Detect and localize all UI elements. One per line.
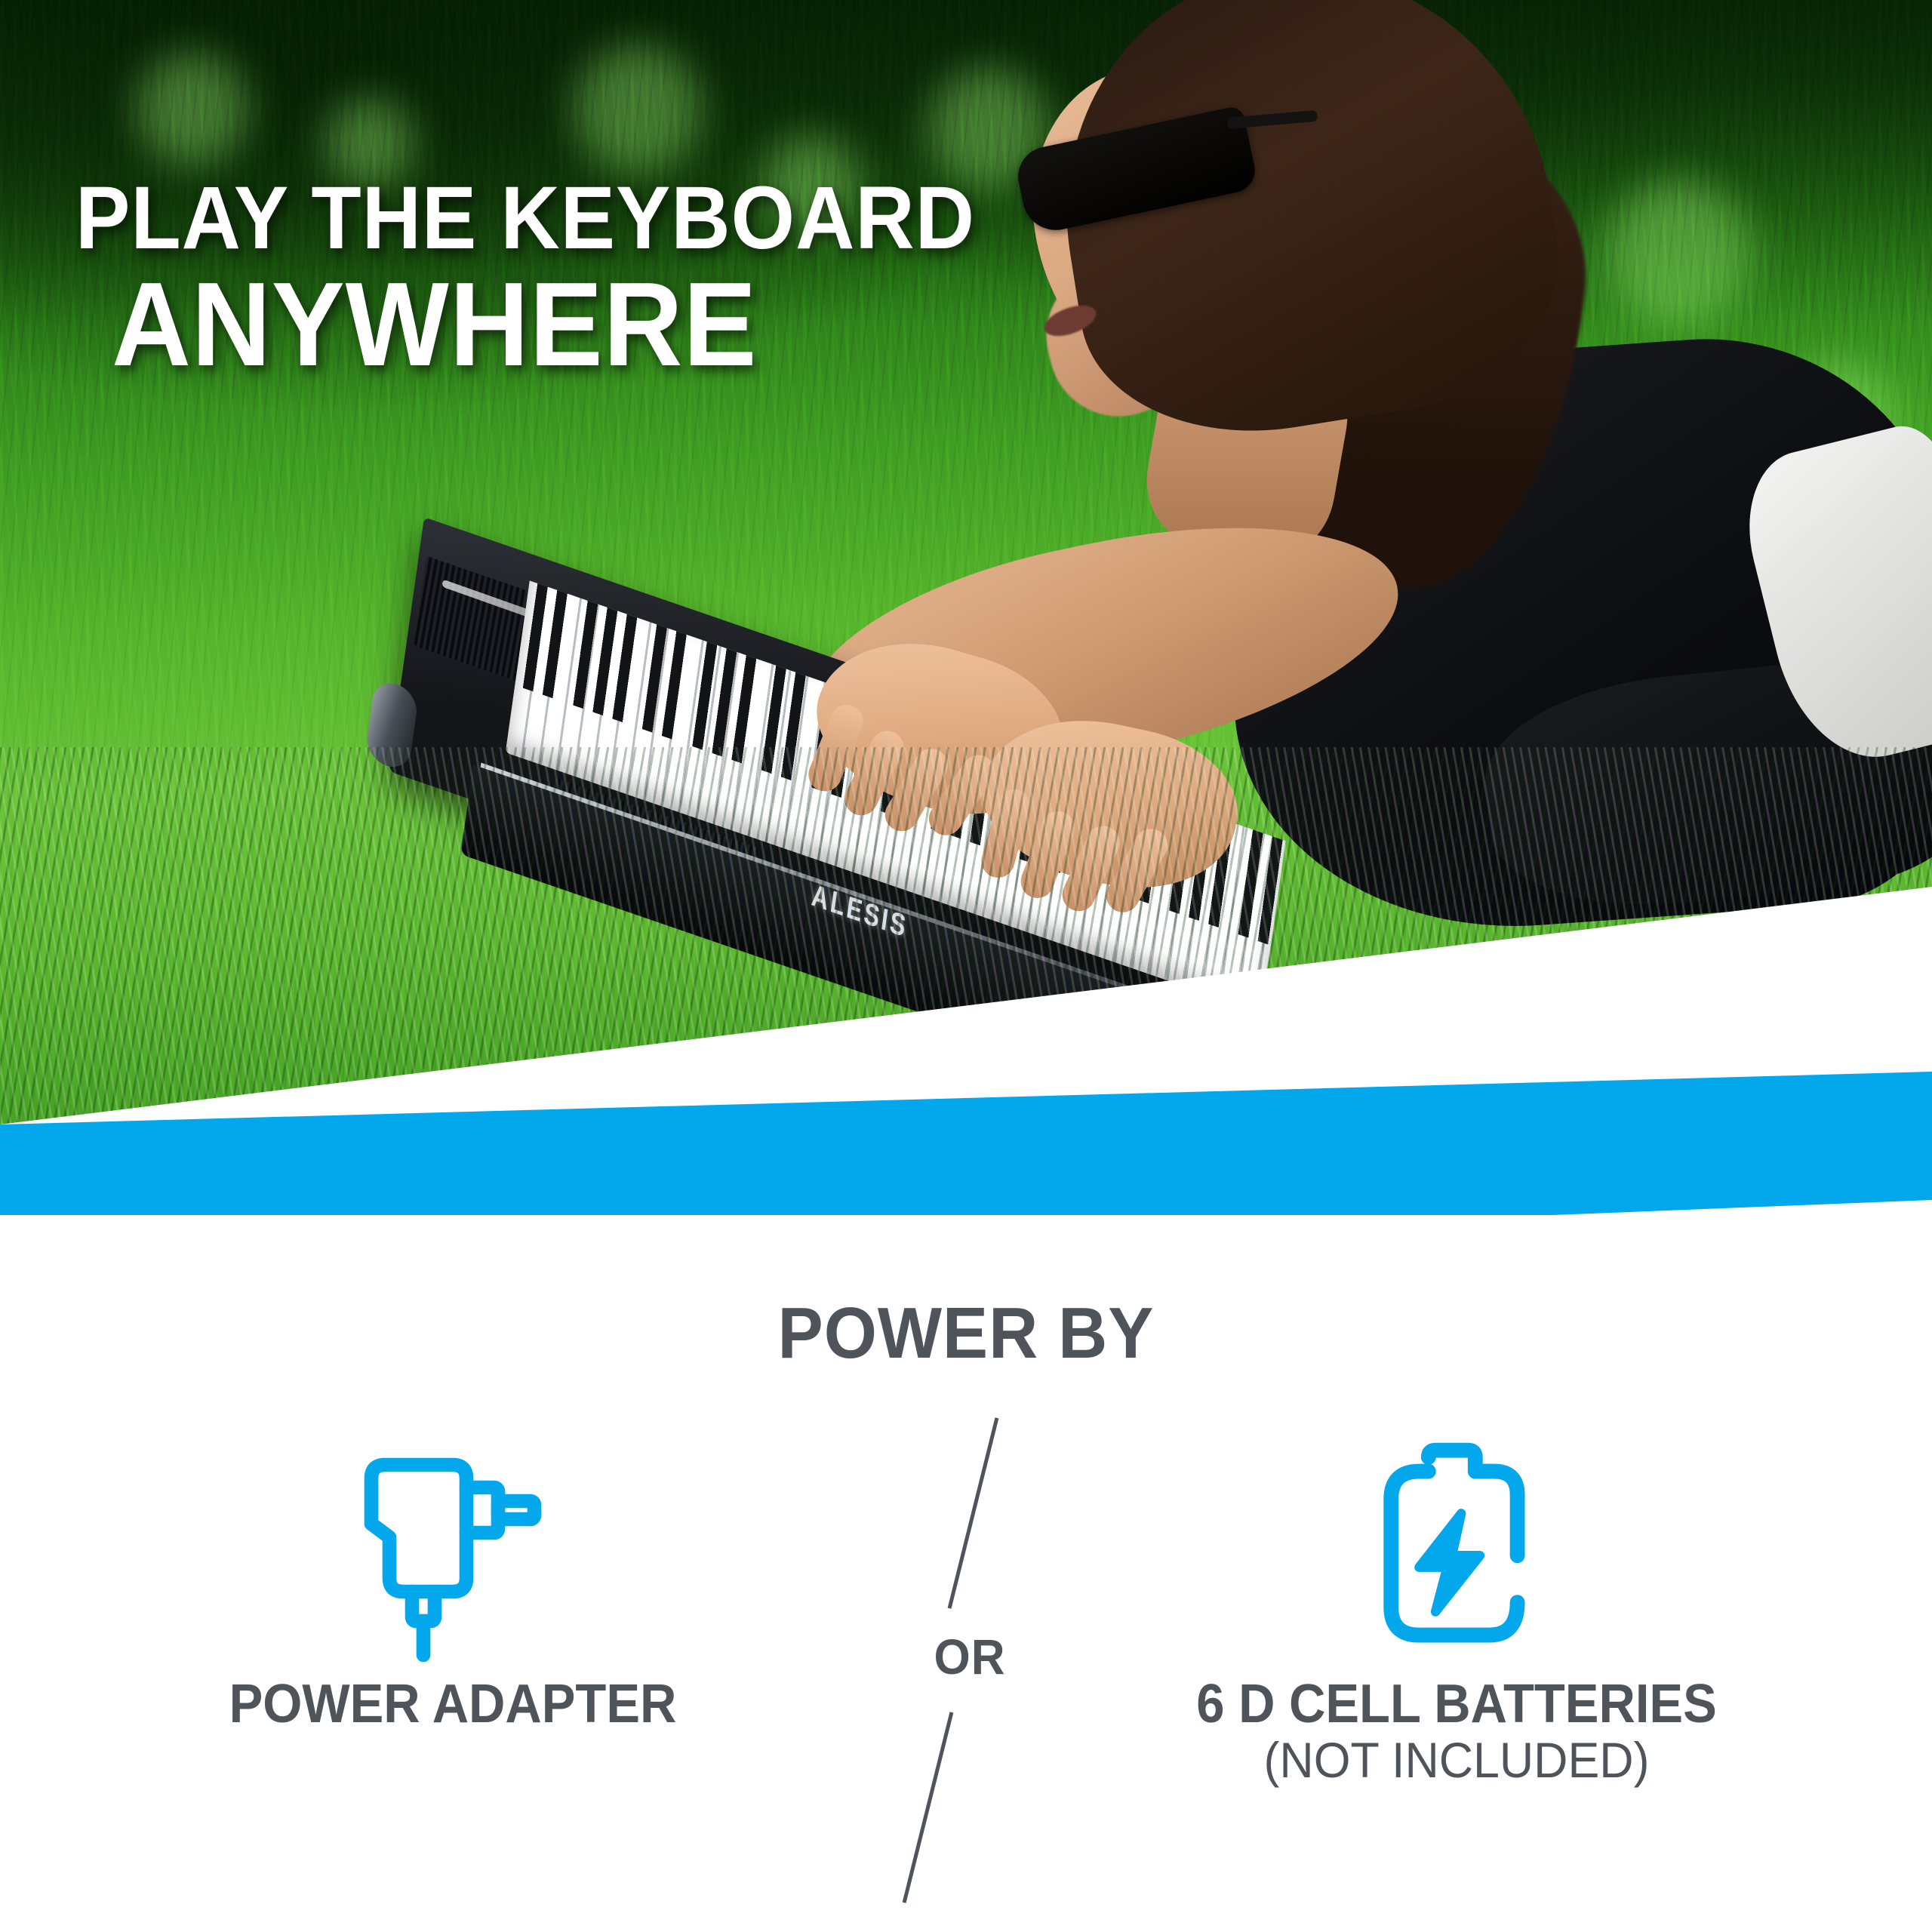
divider-line-bottom xyxy=(903,1712,954,1903)
lifestyle-photo: ALESIS PLAY THE KEYBOARD ANYWHERE xyxy=(0,0,1932,1215)
batteries-sublabel: (NOT INCLUDED) xyxy=(1106,1733,1808,1789)
power-option-batteries: 6 D CELL BATTERIES (NOT INCLUDED) xyxy=(1087,1426,1826,1789)
or-divider: OR xyxy=(857,1407,1083,1906)
power-adapter-label: POWER ADAPTER xyxy=(137,1675,769,1733)
headline-line-2: ANYWHERE xyxy=(112,264,978,386)
battery-icon-wrap xyxy=(1087,1426,1826,1675)
divider-line-top xyxy=(948,1417,999,1608)
power-by-heading: POWER BY xyxy=(58,1292,1874,1375)
product-feature-image: ALESIS PLAY THE KEYBOARD ANYWHERE POWER … xyxy=(0,0,1932,1932)
power-adapter-icon xyxy=(340,1438,566,1664)
headline-block: PLAY THE KEYBOARD ANYWHERE xyxy=(75,174,1054,386)
lightning-bolt-icon xyxy=(1419,1513,1480,1611)
power-option-adapter: POWER ADAPTER xyxy=(113,1426,792,1733)
headline-line-1: PLAY THE KEYBOARD xyxy=(75,174,975,263)
power-adapter-icon-wrap xyxy=(113,1426,792,1675)
power-options-panel: POWER BY xyxy=(0,1215,1932,1932)
or-label: OR xyxy=(863,1628,1076,1685)
batteries-label: 6 D CELL BATTERIES xyxy=(1112,1675,1800,1733)
battery-charging-icon xyxy=(1362,1434,1551,1668)
